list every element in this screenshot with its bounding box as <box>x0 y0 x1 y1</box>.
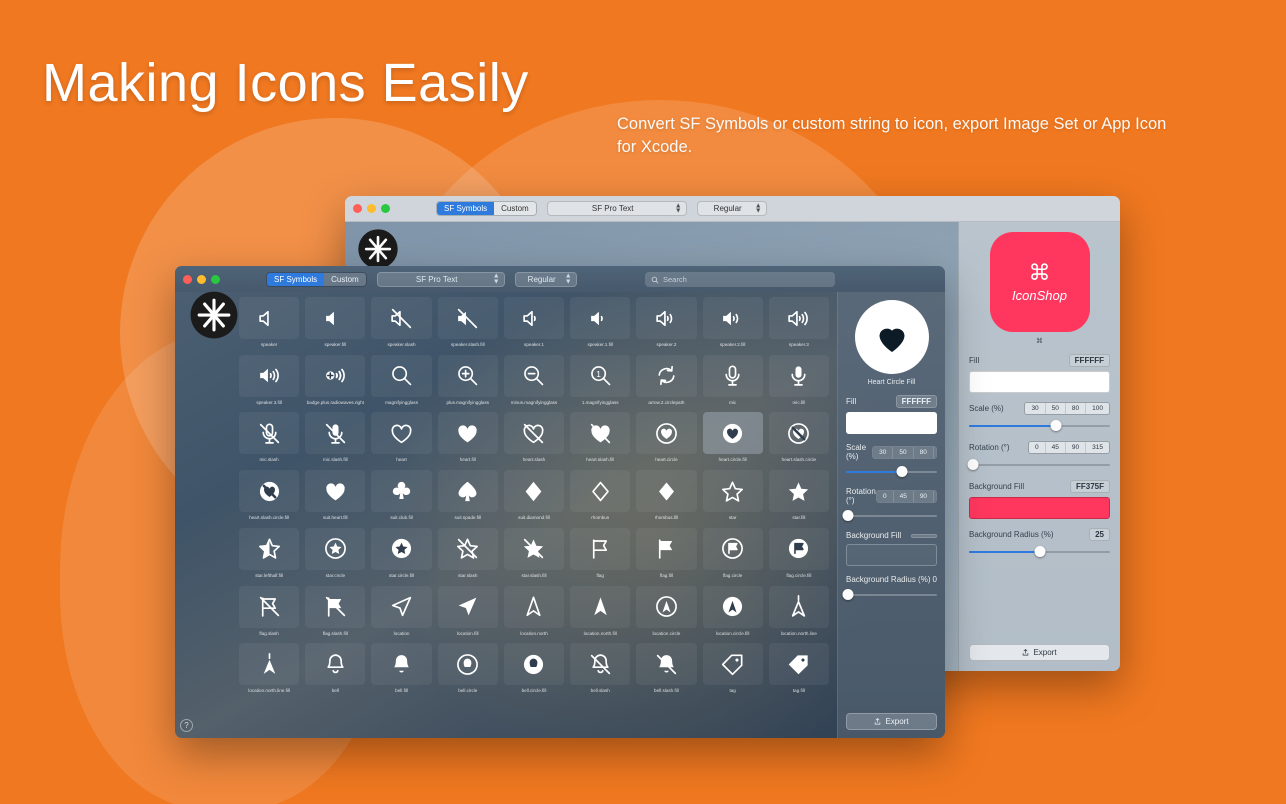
star-slash-fill-icon <box>504 528 564 570</box>
symbol-label: heart.circle <box>636 457 696 463</box>
back-scale-preset[interactable]: 80 <box>1066 403 1086 414</box>
symbol-cell[interactable]: location.circle <box>636 586 696 637</box>
symbol-label: star <box>703 515 763 521</box>
back-scale-presets[interactable]: 30 50 80 100 <box>1024 402 1110 415</box>
bell-icon <box>305 643 365 685</box>
chevron-updown-icon: ▲▼ <box>565 273 572 284</box>
symbol-label: suit.spade.fill <box>438 515 498 521</box>
symbol-cell[interactable]: bell.circle <box>438 643 498 694</box>
back-font-popup[interactable]: SF Pro Text ▲▼ <box>547 201 687 216</box>
symbol-grid-scroll-area[interactable]: speakerspeaker.fillspeaker.slashspeaker.… <box>233 292 835 738</box>
symbol-label: location.north.line.fill <box>239 688 299 694</box>
symbol-cell[interactable]: star.fill <box>769 470 829 521</box>
background-radius-slider[interactable] <box>846 589 937 601</box>
back-background-fill-swatch[interactable] <box>969 497 1110 519</box>
scale-presets[interactable]: 30 50 80 100 <box>872 446 937 459</box>
speaker-slash-icon <box>371 297 431 339</box>
speaker-3-fill-icon <box>239 355 299 397</box>
symbol-label: heart.slash.fill <box>570 457 630 463</box>
symbol-cell[interactable]: heart.slash.circle.fill <box>239 470 299 521</box>
heart-slash-circle-fill-icon <box>239 470 299 512</box>
symbol-cell[interactable]: bell.fill <box>371 643 431 694</box>
symbol-cell[interactable]: mic.fill <box>769 355 829 406</box>
font-popup-value: SF Pro Text <box>416 275 458 284</box>
symbol-cell[interactable]: mic.slash <box>239 412 299 463</box>
scale-slider[interactable] <box>846 466 937 478</box>
symbol-label: tag <box>703 688 763 694</box>
symbol-cell[interactable]: speaker.fill <box>305 297 365 348</box>
symbol-label: location.circle.fill <box>703 631 763 637</box>
speaker-1-fill-icon <box>570 297 630 339</box>
back-window-titlebar: SF Symbols Custom SF Pro Text ▲▼ Regular… <box>345 196 1120 222</box>
symbol-label: heart.fill <box>438 457 498 463</box>
symbol-cell[interactable]: suit.club.fill <box>371 470 431 521</box>
back-export-label: Export <box>1033 648 1056 657</box>
rotation-label: Rotation (°) <box>846 487 876 505</box>
front-traffic-lights <box>183 275 220 284</box>
back-rotation-preset[interactable]: 45 <box>1046 442 1066 453</box>
symbol-label: heart.slash.circle <box>769 457 829 463</box>
background-radius-value: 0 <box>933 575 937 584</box>
zoom-button-icon[interactable] <box>211 275 220 284</box>
location-fill-icon <box>438 586 498 628</box>
symbol-label: 1.magnifyingglass <box>570 400 630 406</box>
symbol-cell[interactable]: speaker.3 <box>769 297 829 348</box>
back-background-radius-slider[interactable] <box>969 546 1110 558</box>
segment-sf-symbols[interactable]: SF Symbols <box>267 273 324 286</box>
back-background-radius-label: Background Radius (%) <box>969 530 1053 539</box>
flag-slash-fill-icon <box>305 586 365 628</box>
weight-popup-value: Regular <box>528 275 556 284</box>
magnifyingglass-icon <box>371 355 431 397</box>
background-fill-hex[interactable] <box>911 534 937 538</box>
bell-circle-fill-icon <box>504 643 564 685</box>
rotation-presets[interactable]: 0 45 90 315 <box>876 490 937 503</box>
symbol-label: magnifyingglass <box>371 400 431 406</box>
symbol-label: flag.circle <box>703 573 763 579</box>
location-north-line-icon <box>769 586 829 628</box>
search-placeholder: Search <box>663 275 687 284</box>
one-magnifyingglass-icon: 1 <box>570 355 630 397</box>
symbol-cell[interactable]: location.fill <box>438 586 498 637</box>
symbol-cell[interactable]: speaker <box>239 297 299 348</box>
location-north-line-fill-icon <box>239 643 299 685</box>
symbol-label: speaker.fill <box>305 342 365 348</box>
app-logo-icon <box>189 290 239 340</box>
heart-icon <box>371 412 431 454</box>
symbol-cell[interactable]: location.north.line <box>769 586 829 637</box>
symbol-cell[interactable]: heart.slash <box>504 412 564 463</box>
rotation-preset[interactable]: 0 <box>877 491 894 502</box>
symbol-cell[interactable]: speaker.2.fill <box>703 297 763 348</box>
symbol-cell[interactable]: 11.magnifyingglass <box>570 355 630 406</box>
flag-circle-fill-icon <box>769 528 829 570</box>
symbol-label: heart.circle.fill <box>703 457 763 463</box>
symbol-label: speaker.3.fill <box>239 400 299 406</box>
minus-magnifyingglass-icon <box>504 355 564 397</box>
scale-preset[interactable]: 50 <box>893 447 913 458</box>
back-scale-preset[interactable]: 100 <box>1086 403 1109 414</box>
symbol-cell[interactable]: star.slash.fill <box>504 528 564 579</box>
symbol-label: mic.fill <box>769 400 829 406</box>
flag-icon <box>570 528 630 570</box>
symbol-label: rhombus <box>570 515 630 521</box>
background-fill-swatch[interactable] <box>846 544 937 566</box>
symbol-label: bell.circle <box>438 688 498 694</box>
suit-diamond-fill-icon <box>504 470 564 512</box>
symbol-cell[interactable]: bell <box>305 643 365 694</box>
star-circle-icon <box>305 528 365 570</box>
page-subtitle: Convert SF Symbols or custom string to i… <box>617 113 1187 160</box>
app-logo-icon <box>357 228 399 270</box>
symbol-cell[interactable]: flag.slash <box>239 586 299 637</box>
star-slash-icon <box>438 528 498 570</box>
symbol-label: rhombus.fill <box>636 515 696 521</box>
back-source-segmented-control[interactable]: SF Symbols Custom <box>436 201 537 216</box>
rotation-preset[interactable]: 45 <box>894 491 914 502</box>
symbol-label: speaker.slash.fill <box>438 342 498 348</box>
chevron-updown-icon: ▲▼ <box>675 203 682 214</box>
symbol-cell[interactable]: flag.fill <box>636 528 696 579</box>
symbol-cell[interactable]: star.slash <box>438 528 498 579</box>
symbol-label: flag.slash.fill <box>305 631 365 637</box>
symbol-label: location.north.line <box>769 631 829 637</box>
symbol-cell[interactable]: heart.fill <box>438 412 498 463</box>
back-segment-custom[interactable]: Custom <box>494 202 536 215</box>
symbol-cell[interactable]: heart.slash.fill <box>570 412 630 463</box>
fill-hex[interactable]: FFFFFF <box>896 395 937 408</box>
symbol-cell[interactable]: mic <box>703 355 763 406</box>
symbol-cell[interactable]: speaker.slash <box>371 297 431 348</box>
rhombus-fill-icon <box>636 470 696 512</box>
chevron-updown-icon: ▲▼ <box>755 203 762 214</box>
symbol-cell[interactable]: heart.slash.circle <box>769 412 829 463</box>
symbol-label: star.lefthalf.fill <box>239 573 299 579</box>
symbol-label: location.north <box>504 631 564 637</box>
symbol-cell[interactable]: bell.slash.fill <box>636 643 696 694</box>
symbol-label: suit.heart.fill <box>305 515 365 521</box>
speaker-2-fill-icon <box>703 297 763 339</box>
page-title: Making Icons Easily <box>42 52 529 114</box>
symbol-label: badge.plus.radiowaves.right <box>305 400 365 406</box>
tag-icon <box>703 643 763 685</box>
symbol-cell[interactable]: speaker.3.fill <box>239 355 299 406</box>
symbol-cell[interactable]: speaker.1.fill <box>570 297 630 348</box>
symbol-cell[interactable]: mic.slash.fill <box>305 412 365 463</box>
iconshop-main-window[interactable]: SF Symbols Custom SF Pro Text ▲▼ Regular… <box>175 266 945 738</box>
heart-fill-icon <box>872 317 912 357</box>
star-circle-fill-icon <box>371 528 431 570</box>
symbol-cell[interactable]: magnifyingglass <box>371 355 431 406</box>
star-lefthalf-fill-icon <box>239 528 299 570</box>
symbol-label: star.circle <box>305 573 365 579</box>
star-fill-icon <box>769 470 829 512</box>
symbol-cell[interactable]: plus.magnifyingglass <box>438 355 498 406</box>
symbol-cell[interactable]: speaker.2 <box>636 297 696 348</box>
back-background-fill-label: Background Fill <box>969 482 1024 491</box>
symbol-cell[interactable]: suit.heart.fill <box>305 470 365 521</box>
badge-plus-radiowaves-right-icon <box>305 355 365 397</box>
symbol-label: star.slash <box>438 573 498 579</box>
symbol-cell[interactable]: rhombus.fill <box>636 470 696 521</box>
symbol-label: star.slash.fill <box>504 573 564 579</box>
speaker-2-icon <box>636 297 696 339</box>
symbol-cell[interactable]: suit.spade.fill <box>438 470 498 521</box>
zoom-button-icon[interactable] <box>381 204 390 213</box>
symbol-label: location.circle <box>636 631 696 637</box>
symbol-cell[interactable]: tag <box>703 643 763 694</box>
close-button-icon[interactable] <box>353 204 362 213</box>
flag-circle-icon <box>703 528 763 570</box>
flag-fill-icon <box>636 528 696 570</box>
symbol-cell[interactable]: speaker.slash.fill <box>438 297 498 348</box>
symbol-label: minus.magnifyingglass <box>504 400 564 406</box>
symbol-label: mic.slash <box>239 457 299 463</box>
fill-swatch[interactable] <box>846 412 937 434</box>
speaker-icon <box>239 297 299 339</box>
symbol-label: speaker.2.fill <box>703 342 763 348</box>
speaker-fill-icon <box>305 297 365 339</box>
background-radius-label: Background Radius (%) <box>846 575 930 584</box>
symbol-label: speaker.1.fill <box>570 342 630 348</box>
symbol-label: plus.magnifyingglass <box>438 400 498 406</box>
symbol-label: bell.fill <box>371 688 431 694</box>
symbol-cell[interactable]: star.circle <box>305 528 365 579</box>
export-icon <box>874 718 881 725</box>
suit-heart-fill-icon <box>305 470 365 512</box>
back-inspector-panel: ⌘ IconShop ⌘ Fill FFFFFF Scale (%) 30 50… <box>958 222 1120 671</box>
heart-slash-icon <box>504 412 564 454</box>
symbol-grid: speakerspeaker.fillspeaker.slashspeaker.… <box>233 292 835 694</box>
heart-slash-fill-icon <box>570 412 630 454</box>
symbol-cell[interactable]: bell.circle.fill <box>504 643 564 694</box>
symbol-cell[interactable]: flag.slash.fill <box>305 586 365 637</box>
symbol-cell[interactable]: location.north.fill <box>570 586 630 637</box>
help-button[interactable]: ? <box>180 719 193 732</box>
symbol-label: star.circle.fill <box>371 573 431 579</box>
front-preview-caption: Heart Circle Fill <box>846 379 937 386</box>
symbol-cell[interactable]: suit.diamond.fill <box>504 470 564 521</box>
back-traffic-lights <box>353 204 390 213</box>
symbol-cell[interactable]: star <box>703 470 763 521</box>
suit-spade-fill-icon <box>438 470 498 512</box>
symbol-label: mic <box>703 400 763 406</box>
mic-icon <box>703 355 763 397</box>
symbol-cell[interactable]: badge.plus.radiowaves.right <box>305 355 365 406</box>
symbol-cell[interactable]: location <box>371 586 431 637</box>
symbol-label: star.fill <box>769 515 829 521</box>
source-segmented-control[interactable]: SF Symbols Custom <box>266 272 367 287</box>
star-icon <box>703 470 763 512</box>
minimize-button-icon[interactable] <box>197 275 206 284</box>
back-rotation-preset[interactable]: 315 <box>1086 442 1109 453</box>
back-scale-preset[interactable]: 30 <box>1025 403 1045 414</box>
plus-magnifyingglass-icon <box>438 355 498 397</box>
back-font-popup-value: SF Pro Text <box>592 204 634 213</box>
symbol-label: mic.slash.fill <box>305 457 365 463</box>
back-scale-preset[interactable]: 50 <box>1046 403 1066 414</box>
symbol-cell[interactable]: rhombus <box>570 470 630 521</box>
symbol-cell[interactable]: flag <box>570 528 630 579</box>
back-scale-label: Scale (%) <box>969 404 1004 413</box>
scale-preset[interactable]: 80 <box>914 447 934 458</box>
export-label: Export <box>885 717 908 726</box>
symbol-cell[interactable]: heart.circle <box>636 412 696 463</box>
symbol-label: flag.fill <box>636 573 696 579</box>
scale-label: Scale (%) <box>846 443 872 461</box>
mic-slash-fill-icon <box>305 412 365 454</box>
front-inspector-panel: Heart Circle Fill Fill FFFFFF Scale (%) … <box>837 292 945 738</box>
minimize-button-icon[interactable] <box>367 204 376 213</box>
back-background-fill-hex[interactable]: FF375F <box>1070 480 1110 493</box>
speaker-3-icon <box>769 297 829 339</box>
symbol-label: bell.slash.fill <box>636 688 696 694</box>
background-fill-label: Background Fill <box>846 531 901 540</box>
location-north-fill-icon <box>570 586 630 628</box>
flag-slash-icon <box>239 586 299 628</box>
heart-slash-circle-icon <box>769 412 829 454</box>
speaker-slash-fill-icon <box>438 297 498 339</box>
symbol-label: flag <box>570 573 630 579</box>
scale-preset[interactable]: 30 <box>873 447 893 458</box>
back-preview-name: IconShop <box>1012 288 1067 303</box>
back-export-button[interactable]: Export <box>969 644 1110 661</box>
rotation-preset[interactable]: 315 <box>934 491 937 502</box>
symbol-cell[interactable]: heart <box>371 412 431 463</box>
symbol-label: speaker.slash <box>371 342 431 348</box>
arrow-2-circlepath-icon <box>636 355 696 397</box>
symbol-cell[interactable]: star.lefthalf.fill <box>239 528 299 579</box>
back-rotation-presets[interactable]: 0 45 90 315 <box>1028 441 1110 454</box>
back-rotation-label: Rotation (°) <box>969 443 1010 452</box>
tag-fill-icon <box>769 643 829 685</box>
chevron-updown-icon: ▲▼ <box>493 273 500 284</box>
bell-slash-fill-icon <box>636 643 696 685</box>
symbol-label: flag.slash <box>239 631 299 637</box>
symbol-cell[interactable]: flag.circle <box>703 528 763 579</box>
location-icon <box>371 586 431 628</box>
suit-club-fill-icon <box>371 470 431 512</box>
rotation-slider[interactable] <box>846 510 937 522</box>
font-popup[interactable]: SF Pro Text ▲▼ <box>377 272 505 287</box>
symbol-cell[interactable]: arrow.2.circlepath <box>636 355 696 406</box>
back-background-radius-value[interactable]: 25 <box>1089 528 1110 541</box>
symbol-cell[interactable]: location.north <box>504 586 564 637</box>
location-north-icon <box>504 586 564 628</box>
scale-preset[interactable]: 100 <box>934 447 937 458</box>
symbol-label: bell.slash <box>570 688 630 694</box>
back-icon-preview: ⌘ IconShop <box>990 232 1090 332</box>
back-rotation-slider[interactable] <box>969 459 1110 471</box>
weight-popup[interactable]: Regular ▲▼ <box>515 272 577 287</box>
location-circle-fill-icon <box>703 586 763 628</box>
back-fill-label: Fill <box>969 356 979 365</box>
fill-label: Fill <box>846 397 856 406</box>
symbol-label: speaker.2 <box>636 342 696 348</box>
symbol-cell[interactable]: bell.slash <box>570 643 630 694</box>
back-weight-popup-value: Regular <box>714 204 742 213</box>
symbol-label: bell <box>305 688 365 694</box>
segment-custom[interactable]: Custom <box>324 273 366 286</box>
search-icon <box>651 276 659 284</box>
symbol-cell[interactable]: tag.fill <box>769 643 829 694</box>
symbol-label: location <box>371 631 431 637</box>
symbol-cell[interactable]: location.circle.fill <box>703 586 763 637</box>
export-icon <box>1022 649 1029 656</box>
symbol-label: heart.slash.circle.fill <box>239 515 299 521</box>
symbol-cell[interactable]: heart.circle.fill <box>703 412 763 463</box>
symbol-label: location.north.fill <box>570 631 630 637</box>
mic-slash-icon <box>239 412 299 454</box>
bell-slash-icon <box>570 643 630 685</box>
symbol-cell[interactable]: flag.circle.fill <box>769 528 829 579</box>
search-field[interactable]: Search <box>645 272 835 287</box>
symbol-label: heart.slash <box>504 457 564 463</box>
location-circle-icon <box>636 586 696 628</box>
symbol-label: flag.circle.fill <box>769 573 829 579</box>
symbol-label: speaker.3 <box>769 342 829 348</box>
symbol-label: location.fill <box>438 631 498 637</box>
rhombus-icon <box>570 470 630 512</box>
symbol-label: speaker.1 <box>504 342 564 348</box>
mic-fill-icon <box>769 355 829 397</box>
command-glyph-icon: ⌘ <box>1029 262 1051 284</box>
symbol-label: heart <box>371 457 431 463</box>
symbol-cell[interactable]: minus.magnifyingglass <box>504 355 564 406</box>
close-button-icon[interactable] <box>183 275 192 284</box>
back-scale-slider[interactable] <box>969 420 1110 432</box>
svg-text:1: 1 <box>596 369 601 379</box>
bell-circle-icon <box>438 643 498 685</box>
back-fill-hex[interactable]: FFFFFF <box>1069 354 1110 367</box>
symbol-cell[interactable]: location.north.line.fill <box>239 643 299 694</box>
back-weight-popup[interactable]: Regular ▲▼ <box>697 201 767 216</box>
symbol-label: suit.club.fill <box>371 515 431 521</box>
speaker-1-icon <box>504 297 564 339</box>
symbol-cell[interactable]: speaker.1 <box>504 297 564 348</box>
symbol-label: bell.circle.fill <box>504 688 564 694</box>
symbol-cell[interactable]: star.circle.fill <box>371 528 431 579</box>
back-segment-sf-symbols[interactable]: SF Symbols <box>437 202 494 215</box>
back-rotation-preset[interactable]: 0 <box>1029 442 1046 453</box>
bell-fill-icon <box>371 643 431 685</box>
export-button[interactable]: Export <box>846 713 937 730</box>
symbol-label: tag.fill <box>769 688 829 694</box>
heart-circle-icon <box>636 412 696 454</box>
back-preview-caption: ⌘ <box>969 337 1110 345</box>
rotation-preset[interactable]: 90 <box>914 491 934 502</box>
back-fill-swatch[interactable] <box>969 371 1110 393</box>
symbol-label: suit.diamond.fill <box>504 515 564 521</box>
heart-circle-fill-icon <box>703 412 763 454</box>
back-rotation-preset[interactable]: 90 <box>1066 442 1086 453</box>
heart-fill-icon <box>438 412 498 454</box>
symbol-label: arrow.2.circlepath <box>636 400 696 406</box>
symbol-label: speaker <box>239 342 299 348</box>
front-icon-preview <box>855 300 929 374</box>
